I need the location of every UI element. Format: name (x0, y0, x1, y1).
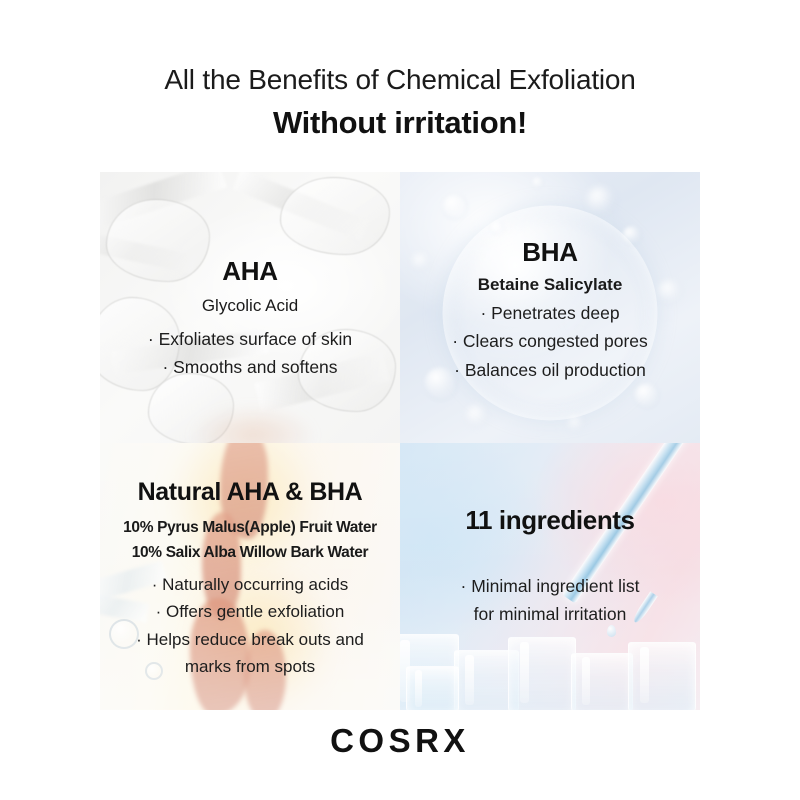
aha-subtitle: Glycolic Acid (202, 296, 298, 316)
natural-bullet-3-continued: marks from spots (185, 653, 315, 681)
natural-bullet-3: · Helps reduce break outs and (136, 626, 364, 654)
bha-bullet-2: · Clears congested pores (452, 327, 648, 355)
ingredients-bullet-1-continued: for minimal irritation (474, 600, 627, 628)
aha-bullet-2: · Smooths and softens (162, 353, 337, 381)
brand-logo: COSRX (0, 722, 800, 760)
ingredients-title: 11 ingredients (465, 505, 634, 536)
bha-text-block: BHA Betaine Salicylate · Penetrates deep… (400, 172, 700, 443)
aha-bullet-1: · Exfoliates surface of skin (148, 325, 352, 353)
quadrant-ingredients: 11 ingredients · Minimal ingredient list… (400, 443, 700, 710)
headline-line-2: Without irritation! (0, 104, 800, 141)
natural-text-block: Natural AHA & BHA 10% Pyrus Malus(Apple)… (100, 443, 400, 710)
quadrant-bha: BHA Betaine Salicylate · Penetrates deep… (400, 172, 700, 443)
aha-title: AHA (222, 256, 277, 287)
natural-subtitle-2: 10% Salix Alba Willow Bark Water (132, 540, 368, 565)
infographic-page: All the Benefits of Chemical Exfoliation… (0, 0, 800, 800)
natural-bullet-2: · Offers gentle exfoliation (156, 598, 345, 626)
ingredients-text-block: 11 ingredients · Minimal ingredient list… (400, 443, 700, 710)
benefits-grid: AHA Glycolic Acid · Exfoliates surface o… (100, 172, 700, 710)
bha-bullet-1: · Penetrates deep (480, 299, 619, 327)
natural-title: Natural AHA & BHA (138, 478, 363, 507)
headline-line-1: All the Benefits of Chemical Exfoliation (0, 64, 800, 96)
quadrant-natural-aha-bha: Natural AHA & BHA 10% Pyrus Malus(Apple)… (100, 443, 400, 710)
natural-subtitle-1: 10% Pyrus Malus(Apple) Fruit Water (123, 515, 377, 540)
quadrant-aha: AHA Glycolic Acid · Exfoliates surface o… (100, 172, 400, 443)
bha-bullet-3: · Balances oil production (454, 356, 646, 384)
natural-bullet-1: · Naturally occurring acids (152, 571, 349, 599)
bha-subtitle: Betaine Salicylate (478, 275, 623, 295)
ingredients-bullet-1: · Minimal ingredient list (461, 572, 640, 600)
aha-text-block: AHA Glycolic Acid · Exfoliates surface o… (100, 172, 400, 443)
bha-title: BHA (522, 237, 577, 268)
page-title: All the Benefits of Chemical Exfoliation… (0, 64, 800, 141)
